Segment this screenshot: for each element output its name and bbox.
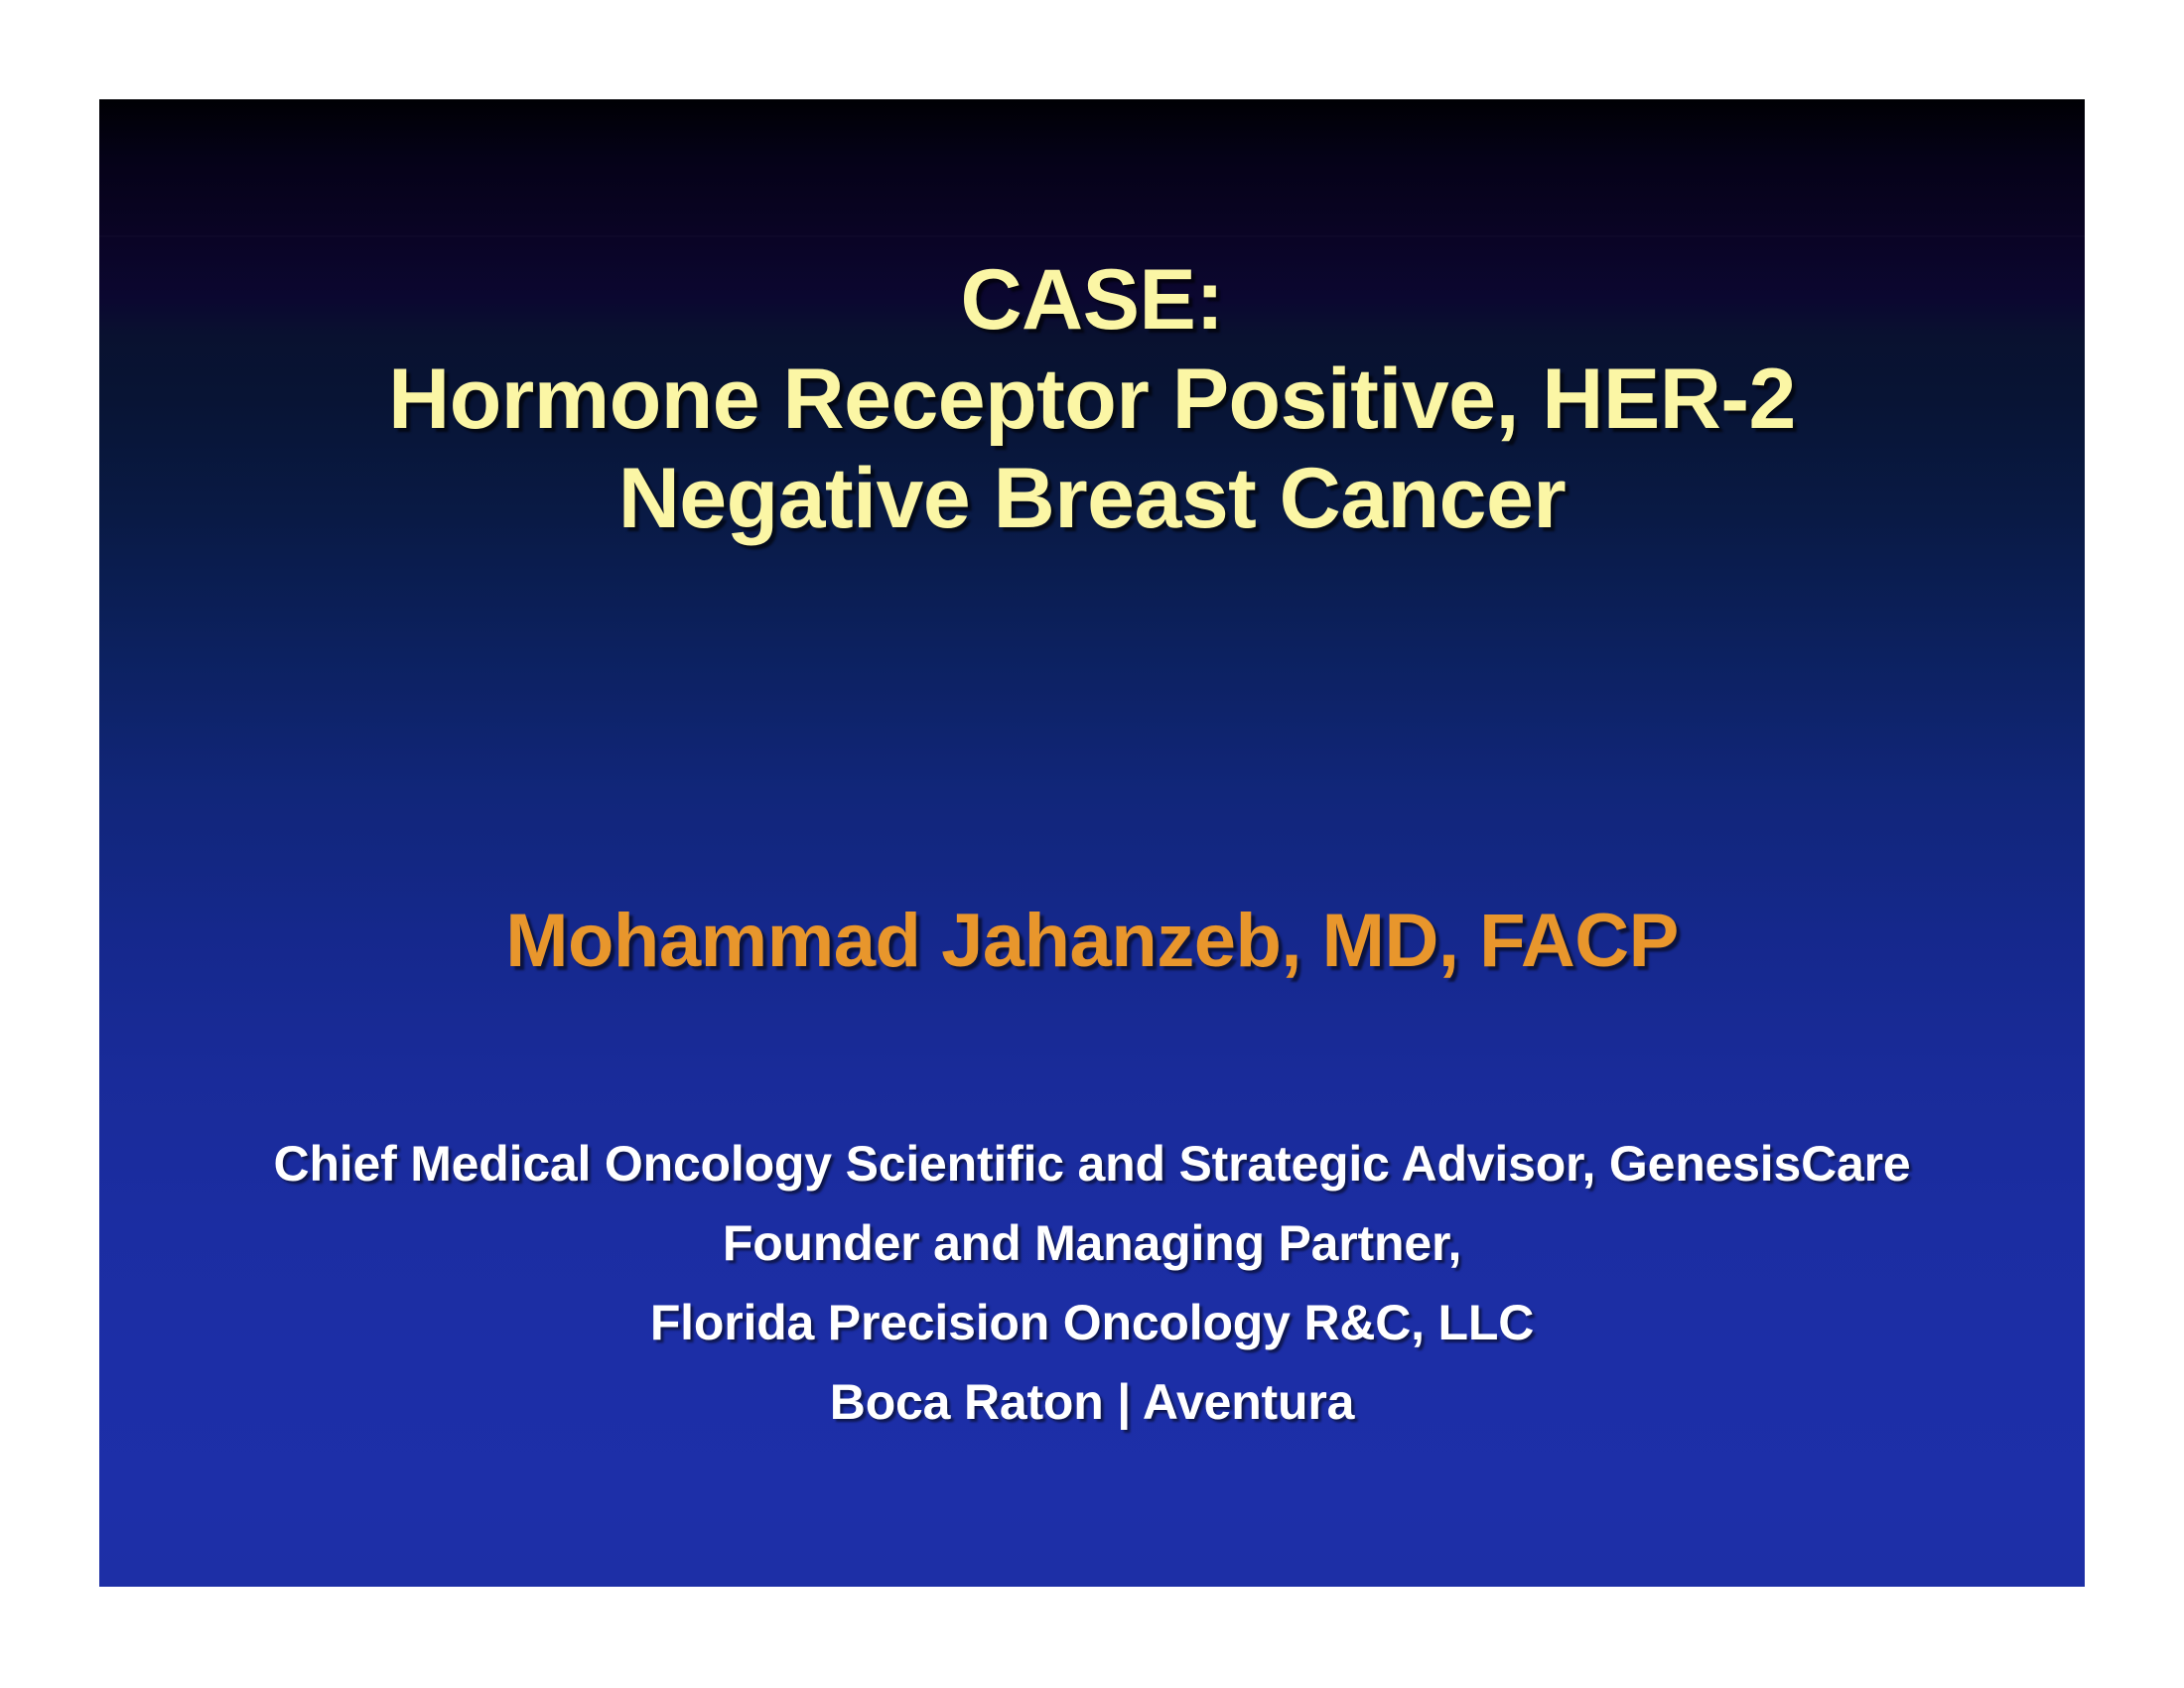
presenter-name: Mohammad Jahanzeb, MD, FACP xyxy=(99,896,2085,987)
affiliation-line-4: Boca Raton | Aventura xyxy=(99,1362,2085,1442)
background-band-seam xyxy=(99,235,2085,237)
affiliation-block: Chief Medical Oncology Scientific and St… xyxy=(99,1124,2085,1442)
slide-title: CASE: Hormone Receptor Positive, HER-2 N… xyxy=(99,250,2085,548)
title-line-2: Hormone Receptor Positive, HER-2 xyxy=(99,350,2085,449)
affiliation-line-3: Florida Precision Oncology R&C, LLC xyxy=(99,1283,2085,1362)
affiliation-line-1: Chief Medical Oncology Scientific and St… xyxy=(99,1124,2085,1203)
title-line-1: CASE: xyxy=(99,250,2085,350)
title-slide: CASE: Hormone Receptor Positive, HER-2 N… xyxy=(99,99,2085,1587)
title-line-3: Negative Breast Cancer xyxy=(99,449,2085,548)
affiliation-line-2: Founder and Managing Partner, xyxy=(99,1203,2085,1283)
page-canvas: CASE: Hormone Receptor Positive, HER-2 N… xyxy=(0,0,2184,1688)
presenter-block: Mohammad Jahanzeb, MD, FACP xyxy=(99,896,2085,987)
